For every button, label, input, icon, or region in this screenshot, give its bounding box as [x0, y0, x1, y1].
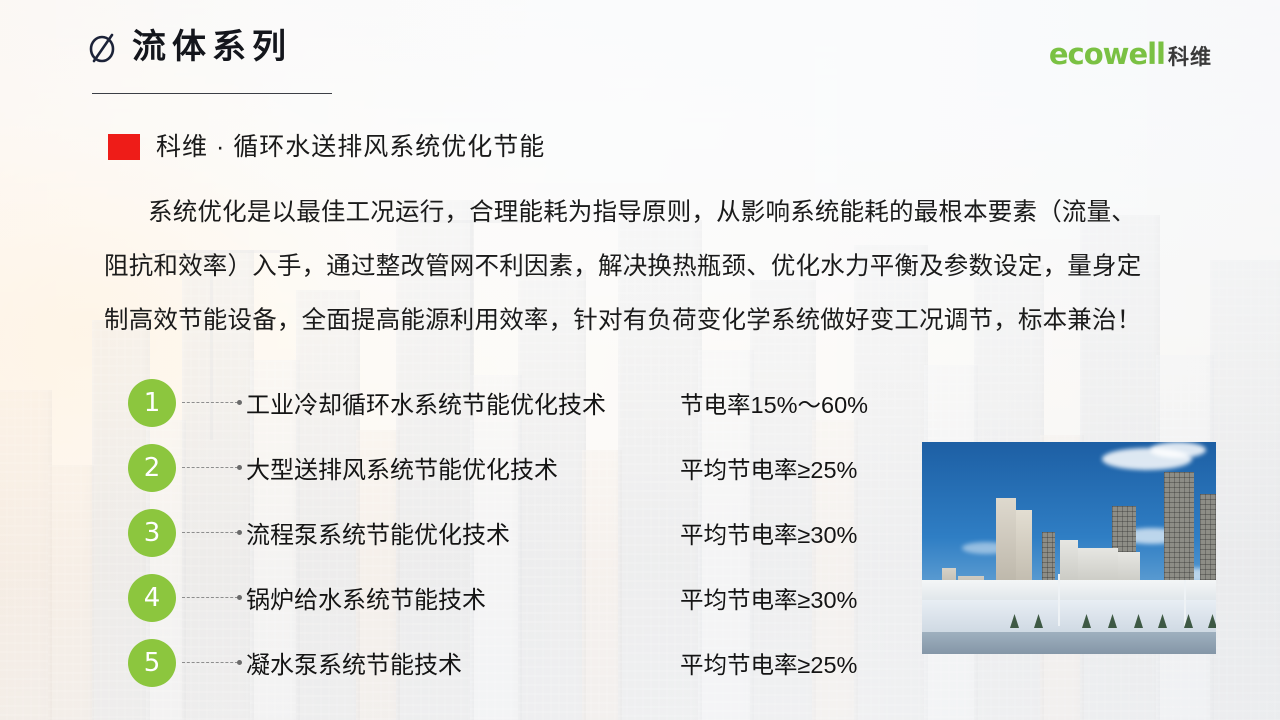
- list-marker-3: 3: [128, 509, 176, 557]
- section-heading-row: 科维 · 循环水送排风系统优化节能: [108, 134, 545, 160]
- connector-dots: [182, 467, 238, 468]
- connector-dots: [182, 532, 238, 533]
- list-marker-5: 5: [128, 639, 176, 687]
- list-item[interactable]: 3 流程泵系统节能优化技术 平均节电率≥30%: [128, 500, 918, 565]
- list-marker-1: 1: [128, 379, 176, 427]
- section-heading: 科维 · 循环水送排风系统优化节能: [156, 135, 545, 160]
- list-marker-2: 2: [128, 444, 176, 492]
- technology-list: 1 工业冷却循环水系统节能优化技术 节电率15%～60% 2 大型送排风系统节能…: [128, 370, 918, 695]
- list-item[interactable]: 2 大型送排风系统节能优化技术 平均节电率≥25%: [128, 435, 918, 500]
- list-item-rate: 平均节电率≥30%: [680, 581, 857, 615]
- circle-slash-icon: [88, 30, 118, 64]
- list-item-label: 工业冷却循环水系统节能优化技术: [246, 385, 606, 420]
- list-item[interactable]: 1 工业冷却循环水系统节能优化技术 节电率15%～60%: [128, 370, 918, 435]
- slide-canvas: 流体系列 ecowell 科维 科维 · 循环水送排风系统优化节能 系统优化是以…: [0, 0, 1280, 720]
- logo-chinese-name: 科维: [1168, 47, 1212, 68]
- paragraph-line-3: 制高效节能设备，全面提高能源利用效率，针对有负荷变化学系统做好变工况调节，标本兼…: [104, 294, 1216, 348]
- industrial-plant-photo: [922, 442, 1216, 654]
- list-item-rate: 平均节电率≥25%: [680, 451, 857, 485]
- connector-dots: [182, 662, 238, 663]
- page-title: 流体系列: [132, 30, 292, 64]
- list-item-rate: 节电率15%～60%: [680, 386, 868, 420]
- list-item[interactable]: 4 锅炉给水系统节能技术 平均节电率≥30%: [128, 565, 918, 630]
- connector-dots: [182, 402, 238, 403]
- slide-title-row: 流体系列: [88, 30, 292, 64]
- list-item-rate: 平均节电率≥30%: [680, 516, 857, 550]
- connector-dots: [182, 597, 238, 598]
- list-item-label: 锅炉给水系统节能技术: [246, 580, 486, 615]
- list-item-label: 凝水泵系统节能技术: [246, 645, 462, 680]
- list-item-label: 流程泵系统节能优化技术: [246, 515, 510, 550]
- list-item-rate: 平均节电率≥25%: [680, 646, 857, 680]
- list-item[interactable]: 5 凝水泵系统节能技术 平均节电率≥25%: [128, 630, 918, 695]
- red-square-bullet-icon: [108, 134, 140, 160]
- paragraph-line-1: 系统优化是以最佳工况运行，合理能耗为指导原则，从影响系统能耗的最根本要素（流量、: [104, 186, 1216, 240]
- body-paragraph: 系统优化是以最佳工况运行，合理能耗为指导原则，从影响系统能耗的最根本要素（流量、…: [104, 186, 1216, 348]
- list-item-label: 大型送排风系统节能优化技术: [246, 450, 558, 485]
- paragraph-line-2: 阻抗和效率）入手，通过整改管网不利因素，解决换热瓶颈、优化水力平衡及参数设定，量…: [104, 240, 1216, 294]
- list-marker-4: 4: [128, 574, 176, 622]
- logo-wordmark: ecowell: [1049, 40, 1165, 69]
- brand-logo: ecowell 科维: [1049, 40, 1212, 69]
- title-underline: [92, 93, 332, 94]
